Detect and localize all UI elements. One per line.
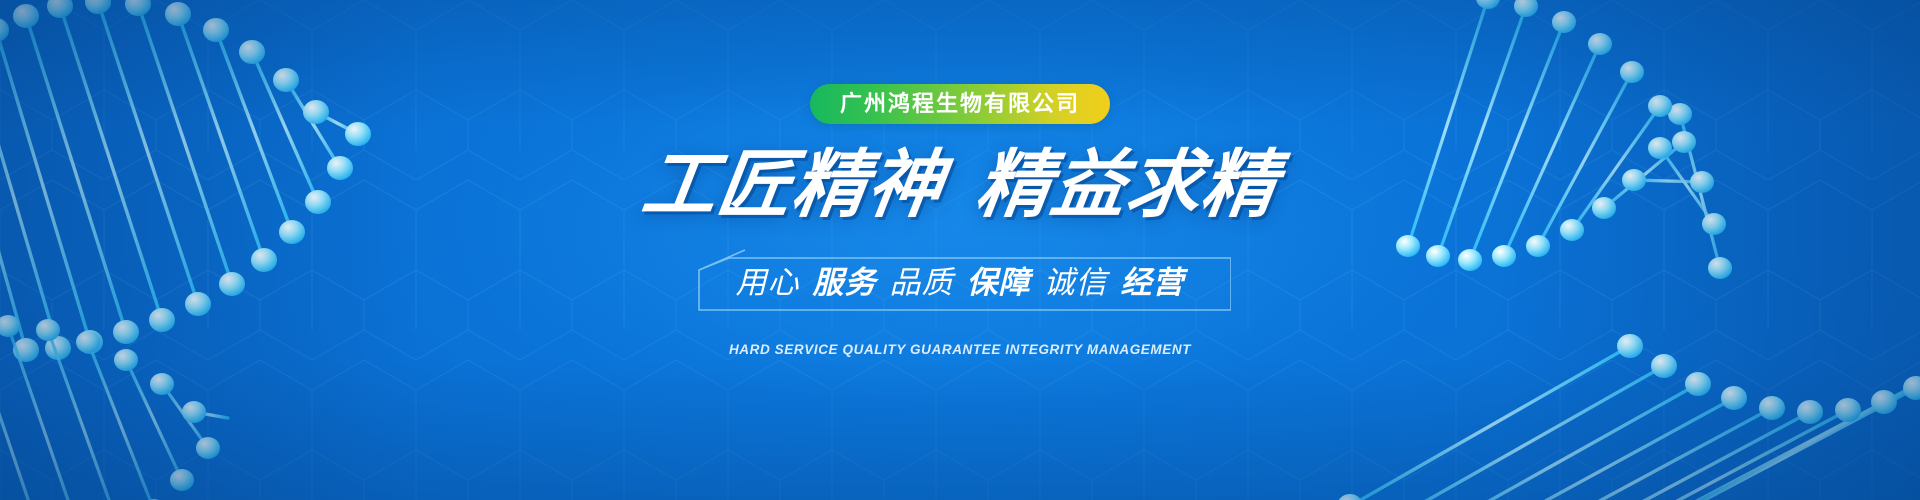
promo-banner: 广州鸿程生物有限公司 工匠精神精益求精 用心服务 品质保障 诚信经营 HARD … bbox=[0, 0, 1920, 500]
subtitle-seg-2: 服务 bbox=[813, 267, 877, 298]
banner-content: 广州鸿程生物有限公司 工匠精神精益求精 用心服务 品质保障 诚信经营 HARD … bbox=[0, 0, 1920, 500]
subtitle-seg-1: 用心 bbox=[736, 267, 800, 298]
english-caption: HARD SERVICE QUALITY GUARANTEE INTEGRITY… bbox=[729, 342, 1191, 357]
page-title: 工匠精神精益求精 bbox=[638, 148, 1282, 222]
subtitle-frame: 用心服务 品质保障 诚信经营 bbox=[689, 248, 1231, 316]
subtitle-seg-4: 保障 bbox=[967, 267, 1031, 298]
headline-part-1: 工匠精神 bbox=[637, 143, 949, 226]
company-name-badge: 广州鸿程生物有限公司 bbox=[810, 84, 1110, 124]
subtitle-seg-6: 经营 bbox=[1121, 267, 1185, 298]
headline-part-2: 精益求精 bbox=[971, 143, 1283, 226]
subtitle-text: 用心服务 品质保障 诚信经营 bbox=[689, 248, 1231, 316]
subtitle-seg-3: 品质 bbox=[890, 267, 954, 298]
subtitle-seg-5: 诚信 bbox=[1044, 267, 1108, 298]
